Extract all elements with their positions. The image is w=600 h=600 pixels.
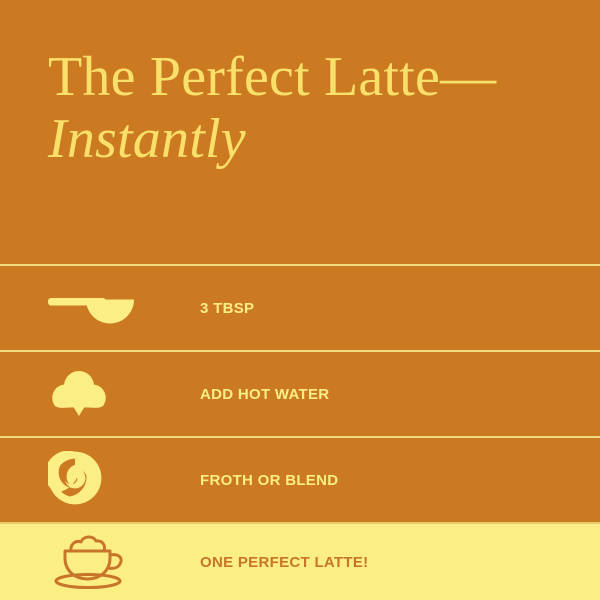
- step-label-cell: 3 TBSP: [200, 300, 600, 317]
- step-label: 3 TBSP: [200, 300, 254, 317]
- step-row: 3 TBSP: [0, 264, 600, 350]
- measuring-spoon-icon: [48, 284, 134, 333]
- step-label-cell: ONE PERFECT LATTE!: [200, 554, 600, 571]
- water-droplets-icon: [48, 366, 110, 423]
- latte-cup-icon: [48, 531, 132, 594]
- step-label: ONE PERFECT LATTE!: [200, 554, 368, 571]
- page-title: The Perfect Latte— Instantly: [48, 47, 560, 169]
- step-row: ADD HOT WATER: [0, 350, 600, 436]
- page-title-line-1: The Perfect Latte—: [48, 47, 560, 107]
- step-label: FROTH OR BLEND: [200, 472, 338, 489]
- step-row: FROTH OR BLEND: [0, 436, 600, 522]
- latte-instructions-poster: The Perfect Latte— Instantly 3 TBSP: [0, 0, 600, 600]
- steps-list: 3 TBSP ADD HOT WATER: [0, 264, 600, 600]
- froth-swirl-icon: [48, 451, 102, 510]
- step-label-cell: FROTH OR BLEND: [200, 472, 600, 489]
- step-icon-cell: [0, 284, 200, 333]
- page-title-line-2: Instantly: [48, 107, 560, 169]
- step-icon-cell: [0, 531, 200, 594]
- step-row: ONE PERFECT LATTE!: [0, 522, 600, 600]
- step-label-cell: ADD HOT WATER: [200, 386, 600, 403]
- step-icon-cell: [0, 366, 200, 423]
- hero-section: The Perfect Latte— Instantly: [0, 0, 600, 264]
- step-label: ADD HOT WATER: [200, 386, 329, 403]
- step-icon-cell: [0, 451, 200, 510]
